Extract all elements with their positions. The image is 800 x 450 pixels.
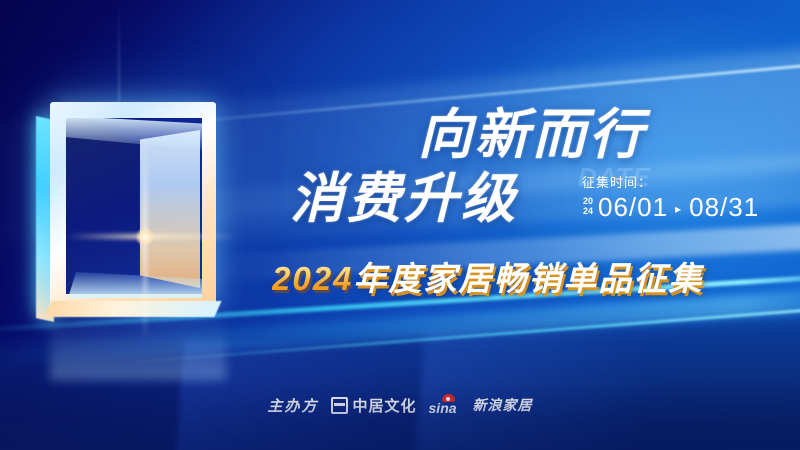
date-label: 征集时间： xyxy=(582,176,652,189)
host-label: 主办方 xyxy=(267,395,318,416)
date-block: DATE 征集时间： 20 24 06/01▸08/31 xyxy=(578,168,778,230)
date-end: 08/31 xyxy=(689,192,759,222)
sponsor-sina[interactable]: sina 新浪家居 xyxy=(429,395,533,415)
door-leaf-right xyxy=(140,130,200,288)
door-portal-graphic xyxy=(36,96,246,326)
headline-line-1: 向新而行 xyxy=(418,108,646,162)
footer-sponsors: 主办方 中居文化 sina 新浪家居 xyxy=(0,390,800,420)
date-start: 06/01 xyxy=(598,192,668,222)
date-year-top: 20 xyxy=(578,196,598,206)
star-flare-icon xyxy=(132,224,158,250)
date-year-bottom: 24 xyxy=(578,206,598,216)
sponsor-zhongju[interactable]: 中居文化 xyxy=(331,395,417,416)
subtitle: 2024年度家居畅销单品征集 xyxy=(272,258,703,300)
door-leaf-left xyxy=(66,118,140,294)
sponsor-sina-label: 新浪家居 xyxy=(473,395,533,415)
date-separator-icon: ▸ xyxy=(675,203,682,215)
sina-eye-logo-icon: sina xyxy=(429,395,469,415)
door-reflection xyxy=(50,310,226,380)
zhongju-square-logo-icon xyxy=(331,397,348,414)
door-bottom-edge xyxy=(44,301,221,317)
subtitle-year: 2024 xyxy=(272,260,353,297)
date-range: 06/01▸08/31 xyxy=(598,194,759,220)
promo-banner: 向新而行 消费升级 DATE 征集时间： 20 24 06/01▸08/31 2… xyxy=(0,0,800,450)
date-year: 20 24 xyxy=(578,196,598,216)
sina-wordmark: sina xyxy=(429,401,457,415)
sponsor-zhongju-label: 中居文化 xyxy=(353,395,417,416)
subtitle-text: 年度家居畅销单品征集 xyxy=(353,260,703,297)
headline-line-2: 消费升级 xyxy=(290,172,518,226)
